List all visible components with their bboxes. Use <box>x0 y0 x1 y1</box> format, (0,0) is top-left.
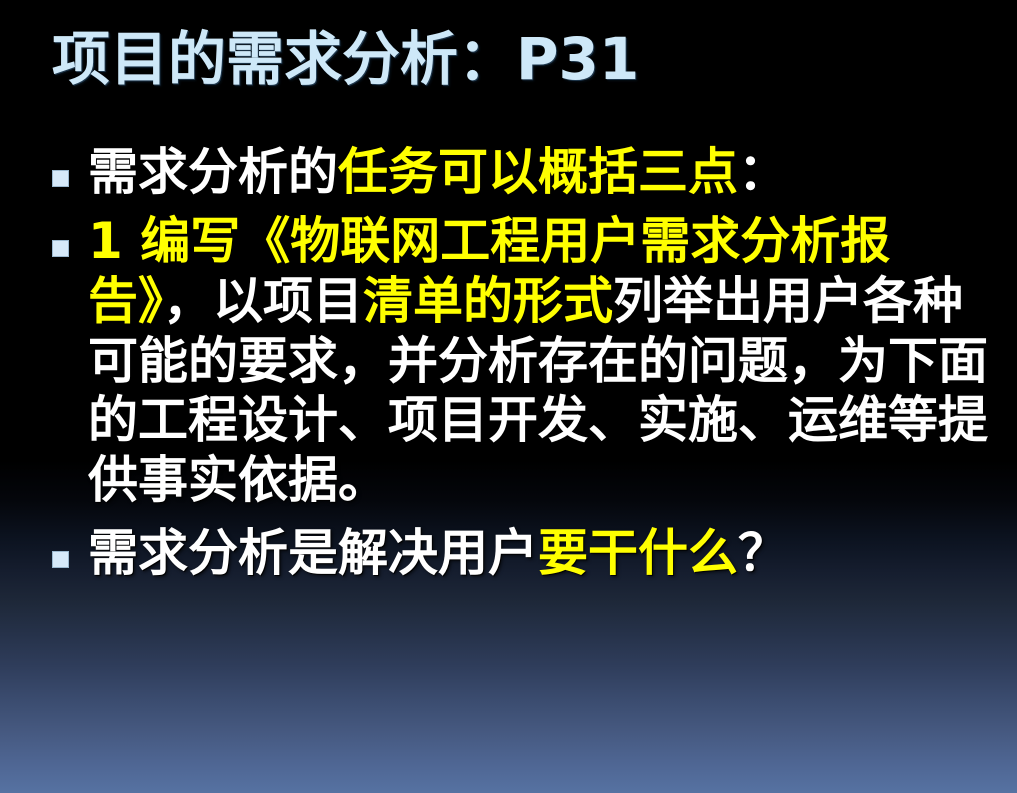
bullet-text-2: 1 编写《物联网工程用户需求分析报告》，以项目清单的形式列举出用户各种可能的要求… <box>88 212 990 511</box>
presentation-slide: 项目的需求分析：P31 需求分析的任务可以概括三点： 1 编写《物联网工程用户需… <box>0 0 1017 793</box>
bullet-item-1: 需求分析的任务可以概括三点： <box>40 142 990 202</box>
bullet-item-3: 需求分析是解决用户要干什么？ <box>40 523 990 583</box>
bullet-text-1: 需求分析的任务可以概括三点： <box>88 142 990 202</box>
slide-body-bullet-list: 需求分析的任务可以概括三点： 1 编写《物联网工程用户需求分析报告》，以项目清单… <box>40 142 990 585</box>
text-run: ？ <box>738 524 788 582</box>
text-run: ： <box>738 143 788 201</box>
text-run-highlight: 清单的形式 <box>363 272 613 330</box>
text-run-highlight: 任务可以概括三点 <box>338 143 738 201</box>
bullet-text-3: 需求分析是解决用户要干什么？ <box>88 523 990 583</box>
text-run: ，以项目 <box>163 272 363 330</box>
square-bullet-icon <box>52 240 69 257</box>
square-bullet-icon <box>52 170 69 187</box>
slide-title: 项目的需求分析：P31 <box>52 28 639 92</box>
text-run: 需求分析是解决用户 <box>88 524 538 582</box>
text-run: 需求分析的 <box>88 143 338 201</box>
text-run-highlight: 要干什么 <box>538 524 738 582</box>
square-bullet-icon <box>52 551 69 568</box>
bullet-item-2: 1 编写《物联网工程用户需求分析报告》，以项目清单的形式列举出用户各种可能的要求… <box>40 212 990 511</box>
slide-content: 项目的需求分析：P31 需求分析的任务可以概括三点： 1 编写《物联网工程用户需… <box>0 0 1017 793</box>
